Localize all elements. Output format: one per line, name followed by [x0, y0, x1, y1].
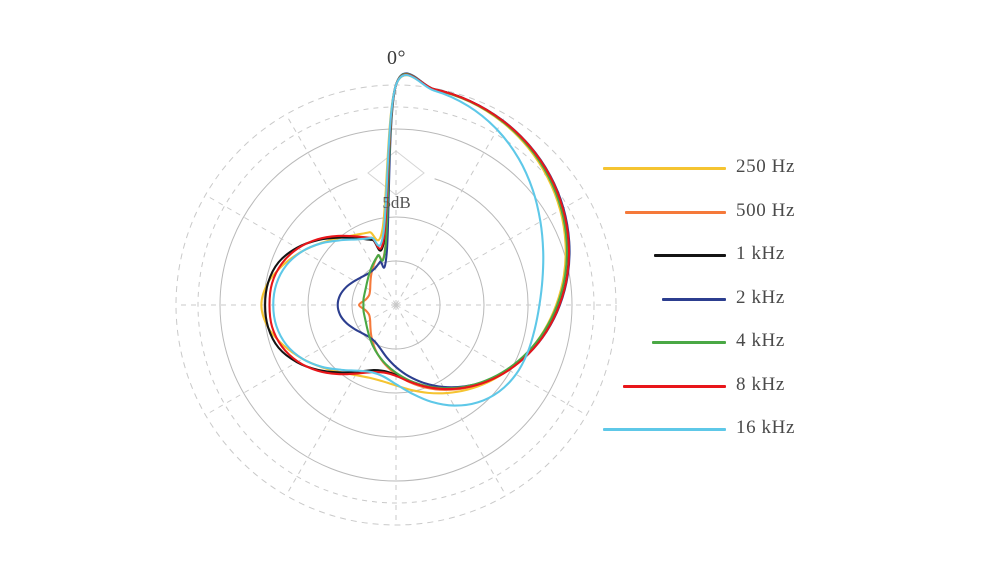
legend-item[interactable]: 2 kHz [596, 281, 866, 325]
legend-item-label: 250 Hz [736, 156, 956, 178]
polar-series-curve [363, 74, 567, 388]
legend-swatch-line [603, 428, 726, 431]
legend-item[interactable]: 8 kHz [596, 368, 866, 412]
legend-item-label: 500 Hz [736, 200, 956, 222]
legend-item[interactable]: 250 Hz [596, 150, 866, 194]
legend-item-label: 2 kHz [736, 287, 956, 309]
legend-swatch-line [625, 211, 726, 214]
legend-item-label: 8 kHz [736, 374, 956, 396]
legend-swatch-line [652, 341, 726, 344]
legend-swatch-line [603, 167, 726, 170]
legend-item[interactable]: 500 Hz [596, 194, 866, 238]
polar-series-curve [338, 73, 570, 387]
legend: 250 Hz500 Hz1 kHz2 kHz4 kHz8 kHz16 kHz [596, 150, 866, 455]
legend-swatch-line [623, 385, 726, 388]
legend-item[interactable]: 16 kHz [596, 411, 866, 455]
axis-label-0-degrees: 0° [0, 47, 793, 70]
legend-swatch-line [654, 254, 726, 257]
angular-spoke [396, 305, 506, 496]
legend-item-label: 1 kHz [736, 243, 956, 265]
legend-item-label: 4 kHz [736, 330, 956, 352]
legend-item[interactable]: 1 kHz [596, 237, 866, 281]
angular-spoke [205, 305, 396, 415]
legend-swatch-line [662, 298, 726, 301]
angular-spoke [286, 305, 396, 496]
polar-grid [176, 85, 616, 525]
legend-item-label: 16 kHz [736, 417, 956, 439]
polar-plot-figure: 0° 5dB 250 Hz500 Hz1 kHz2 kHz4 kHz8 kHz1… [0, 0, 1000, 571]
legend-item[interactable]: 4 kHz [596, 324, 866, 368]
